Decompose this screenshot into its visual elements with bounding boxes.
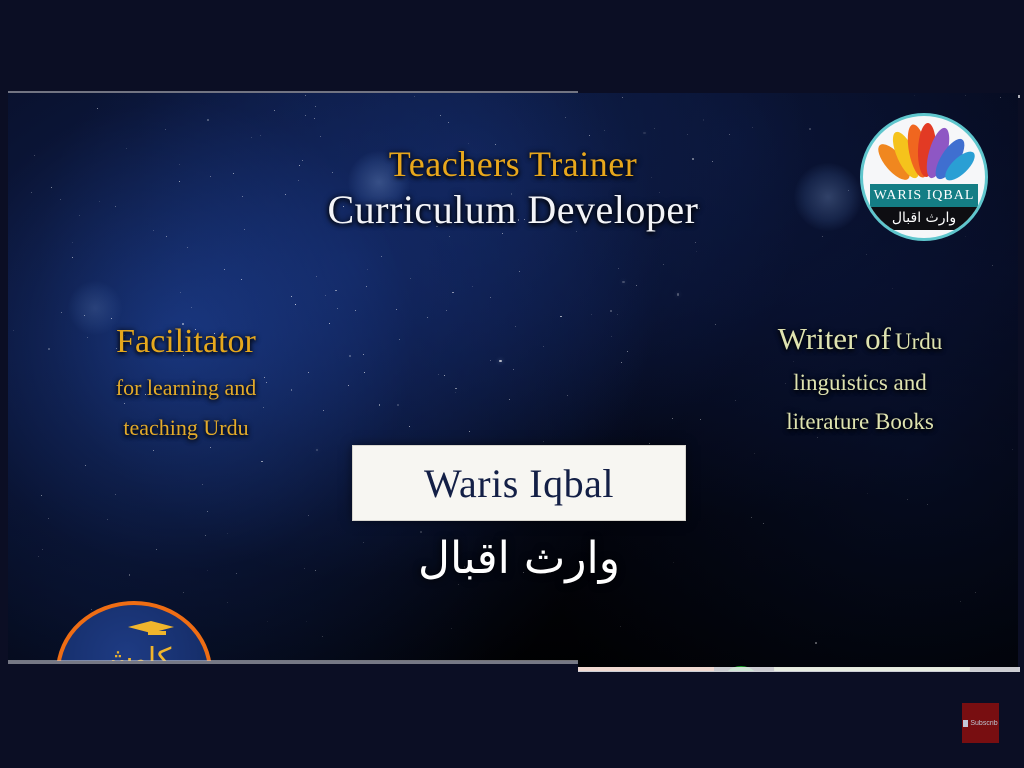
- facilitator-subline-2: teaching Urdu: [56, 415, 316, 441]
- name-plate: Waris Iqbal: [352, 445, 686, 521]
- presenter-name-urdu: وارث اقبال: [352, 531, 686, 586]
- subscribe-watermark-button[interactable]: Subscrib: [962, 703, 999, 743]
- writer-subline-2: literature Books: [720, 409, 1000, 435]
- video-frame[interactable]: Teachers Trainer Curriculum Developer Fa…: [8, 93, 1018, 671]
- left-role-column: Facilitator for learning and teaching Ur…: [56, 323, 316, 441]
- lotus-petals-icon: [872, 122, 976, 184]
- writer-urdu-label: Urdu: [895, 329, 942, 354]
- facilitator-title: Facilitator: [56, 323, 316, 361]
- subscribe-label: Subscrib: [970, 720, 997, 727]
- writer-title-line: Writer of Urdu: [720, 321, 1000, 357]
- video-player[interactable]: Teachers Trainer Curriculum Developer Fa…: [0, 0, 1024, 768]
- video-frame-bottom-edge-left: [8, 660, 578, 664]
- right-role-column: Writer of Urdu linguistics and literatur…: [720, 321, 1000, 435]
- writer-subline-1: linguistics and: [720, 370, 1000, 396]
- logo-brand-band-urdu: وارث اقبال: [870, 207, 978, 230]
- graduation-cap-icon: [128, 621, 174, 637]
- video-frame-bottom-edge-right: [578, 667, 1020, 672]
- facilitator-subline-1: for learning and: [56, 375, 316, 401]
- writer-of-label: Writer of: [778, 321, 891, 356]
- waris-iqbal-logo: WARIS IQBAL وارث اقبال: [860, 113, 988, 241]
- subscribe-play-icon: [963, 720, 968, 727]
- presenter-name: Waris Iqbal: [424, 460, 614, 507]
- logo-brand-band: WARIS IQBAL: [870, 184, 978, 207]
